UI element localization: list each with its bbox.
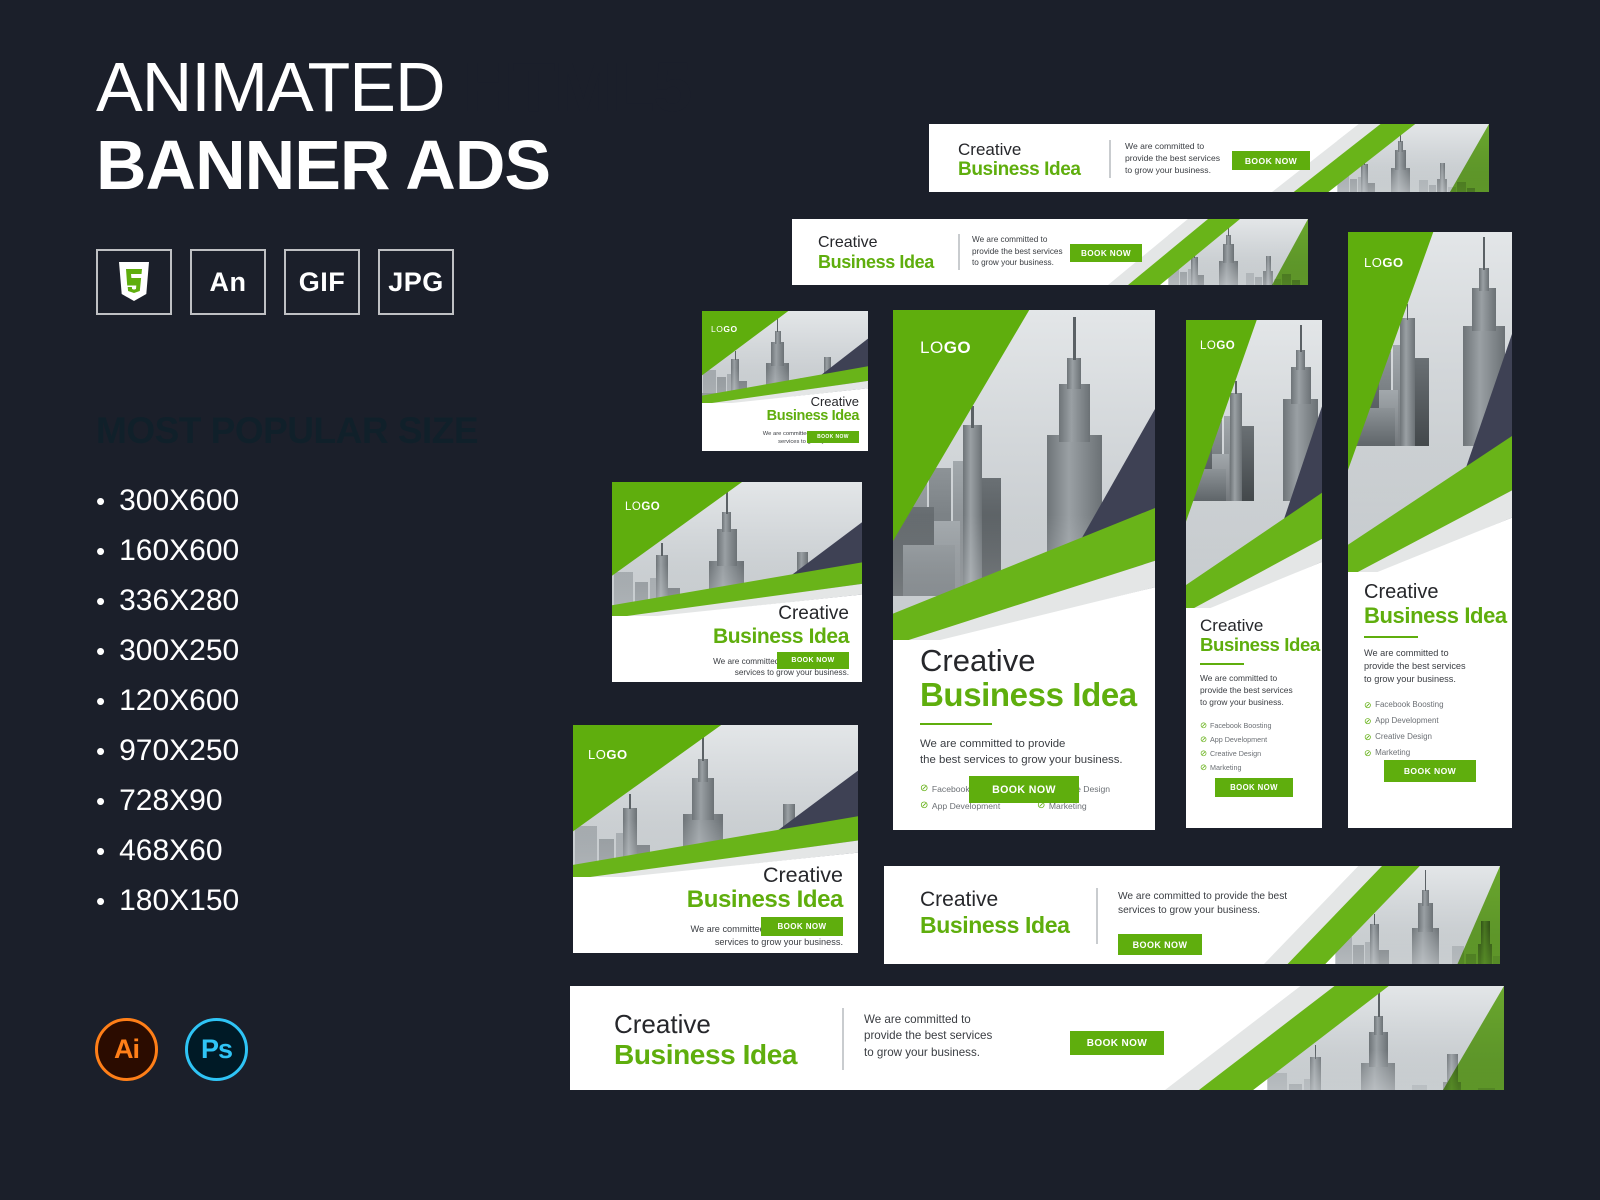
banner-logo: LOGO [711, 324, 738, 334]
logo-prefix: LO [588, 747, 606, 762]
empire-state-crown [1422, 890, 1429, 906]
banner-description: We are committed toprovide the best serv… [864, 1012, 992, 1061]
banner-mockup[interactable]: CreativeBusiness IdeaWe are committed to… [792, 219, 1308, 285]
banner-image-region [1165, 986, 1504, 1090]
empire-state-midsection [717, 529, 737, 565]
check-circle-icon: ⊘ [1364, 732, 1372, 742]
banner-text-block: CreativeBusiness IdeaWe are committed to… [1200, 617, 1308, 772]
logo-prefix: LO [920, 338, 944, 357]
feature-label: Facebook Boosting [1375, 700, 1444, 710]
banner-divider-rule [1364, 636, 1418, 638]
banner-mockup-showcase: CreativeBusiness IdeaWe are committed to… [0, 0, 1600, 1200]
banner-mockup[interactable]: CreativeBusiness IdeaWe are committed to… [884, 866, 1500, 964]
empire-state-crown [1226, 235, 1231, 245]
banner-title-creative: Creative [818, 234, 934, 252]
banner-image-region [1264, 866, 1500, 964]
feature-label: Facebook Boosting [1210, 721, 1272, 730]
banner-mockup[interactable]: LOGOCreativeBusiness IdeaWe are committe… [893, 310, 1155, 830]
empire-state-antenna [1378, 990, 1380, 1017]
feature-item: ⊘Marketing [1364, 748, 1496, 758]
description-line: provide the best services [1200, 685, 1308, 697]
check-circle-icon: ⊘ [1364, 716, 1372, 726]
logo-prefix: LO [1364, 255, 1382, 270]
book-now-button[interactable]: BOOK NOW [1070, 244, 1142, 262]
check-circle-icon: ⊘ [1364, 748, 1372, 758]
feature-label: Creative Design [1375, 732, 1432, 742]
banner-description: We are committed toprovide the best serv… [1125, 140, 1220, 177]
banner-title-creative: Creative [1200, 617, 1308, 635]
banner-text-block: CreativeBusiness IdeaWe are committed to… [1364, 582, 1496, 758]
book-now-button[interactable]: BOOK NOW [1070, 1031, 1164, 1055]
banner-title-business-idea: Business Idea [588, 887, 843, 913]
book-now-button[interactable]: BOOK NOW [777, 652, 849, 669]
secondary-spire [661, 543, 663, 557]
description-line: to grow your business. [1200, 697, 1308, 709]
description-line: We are committed to [1364, 647, 1496, 660]
vertical-divider [842, 1008, 844, 1070]
secondary-spire [1235, 381, 1237, 395]
banner-title-business-idea: Business Idea [920, 677, 1128, 713]
banner-title-creative: Creative [920, 644, 1128, 677]
banner-title-group: CreativeBusiness Idea [614, 1010, 797, 1071]
empire-state-crown [722, 512, 731, 532]
description-line: services to grow your business. [588, 936, 843, 949]
check-circle-icon: ⊘ [920, 801, 928, 812]
banner-title-creative: Creative [625, 604, 849, 625]
banner-image-region [1348, 232, 1512, 572]
book-now-button[interactable]: BOOK NOW [1215, 778, 1293, 797]
feature-item: ⊘App Development [1200, 735, 1308, 744]
banner-logo: LOGO [1200, 340, 1235, 352]
banner-title-business-idea: Business Idea [614, 1039, 797, 1071]
banner-title-group: CreativeBusiness Idea [818, 234, 934, 272]
logo-suffix: GO [641, 501, 660, 513]
feature-label: Marketing [1210, 763, 1242, 772]
book-now-button[interactable]: BOOK NOW [761, 917, 843, 936]
description-line: to grow your business. [1125, 164, 1220, 176]
empire-state-midsection [692, 778, 714, 819]
secondary-spire [1407, 304, 1409, 320]
feature-label: App Development [1210, 735, 1267, 744]
logo-prefix: LO [625, 501, 641, 513]
feature-item: ⊘Facebook Boosting [1200, 721, 1308, 730]
description-line: provide the best services [972, 246, 1063, 258]
banner-title-creative: Creative [958, 140, 1081, 159]
description-line: We are committed to [1200, 673, 1308, 685]
banner-description: We are committed toprovide the best serv… [1364, 647, 1496, 686]
banner-title-creative: Creative [711, 395, 859, 409]
empire-state-antenna [1073, 317, 1076, 360]
building-block [1242, 426, 1254, 500]
banner-title-group: CreativeBusiness Idea [958, 140, 1081, 181]
description-line: to grow your business. [1364, 673, 1496, 686]
logo-suffix: GO [606, 747, 627, 762]
description-line: provide the best services [864, 1028, 992, 1044]
check-circle-icon: ⊘ [1364, 700, 1372, 710]
empire-state-crown [1398, 141, 1403, 152]
banner-mockup[interactable]: LOGOCreativeBusiness IdeaWe are committe… [702, 311, 868, 451]
logo-suffix: GO [944, 338, 971, 357]
logo-suffix: GO [1382, 255, 1403, 270]
banner-mockup[interactable]: LOGOCreativeBusiness IdeaWe are committe… [612, 482, 862, 682]
feature-item: ⊘Creative Design [1200, 749, 1308, 758]
logo-prefix: LO [1200, 340, 1216, 352]
banner-description: We are committed to providethe best serv… [920, 736, 1128, 768]
empire-state-crown [1067, 358, 1081, 389]
secondary-spire [735, 351, 736, 360]
banner-logo: LOGO [920, 338, 971, 358]
banner-title-business-idea: Business Idea [1364, 604, 1496, 628]
banner-logo: LOGO [625, 501, 660, 513]
banner-text-block: CreativeBusiness IdeaWe are committed to… [625, 604, 849, 682]
book-now-button[interactable]: BOOK NOW [1232, 151, 1310, 170]
secondary-spire [629, 794, 631, 809]
description-line: provide the best services [1125, 152, 1220, 164]
empire-state-midsection [771, 342, 784, 366]
description-line: services to grow your business. [1118, 904, 1287, 918]
secondary-tower [1400, 318, 1414, 446]
description-line: the best services to grow your business. [920, 752, 1128, 768]
secondary-spire [971, 406, 974, 428]
empire-state-midsection [1291, 367, 1311, 403]
banner-title-business-idea: Business Idea [711, 409, 859, 425]
logo-suffix: GO [1216, 340, 1235, 352]
check-circle-icon: ⊘ [1200, 721, 1207, 730]
banner-description: We are committed toprovide the best serv… [972, 234, 1063, 269]
book-now-button[interactable]: BOOK NOW [969, 776, 1079, 803]
banner-logo: LOGO [588, 747, 628, 762]
banner-description: We are committed to provide the bestserv… [1118, 890, 1287, 919]
banner-title-business-idea: Business Idea [625, 625, 849, 648]
banner-mockup[interactable]: CreativeBusiness IdeaWe are committed to… [570, 986, 1504, 1090]
check-circle-icon: ⊘ [1200, 735, 1207, 744]
check-circle-icon: ⊘ [920, 784, 928, 795]
feature-label: Marketing [1375, 748, 1410, 758]
empire-state-midsection [1472, 288, 1495, 331]
banner-title-creative: Creative [614, 1010, 797, 1039]
empire-state-antenna [1483, 237, 1485, 269]
vertical-divider [958, 234, 960, 270]
banner-feature-list: ⊘Facebook Boosting⊘App Development⊘Creat… [1364, 700, 1496, 758]
book-now-button[interactable]: BOOK NOW [807, 431, 859, 443]
description-line: provide the best services [1364, 660, 1496, 673]
empire-state-antenna [1425, 870, 1427, 892]
feature-label: App Development [1375, 716, 1439, 726]
book-now-button[interactable]: BOOK NOW [1118, 934, 1202, 955]
banner-text-block: CreativeBusiness IdeaWe are committed to… [588, 864, 843, 953]
banner-title-business-idea: Business Idea [818, 252, 934, 273]
vertical-divider [1096, 888, 1098, 944]
empire-state-crown [1296, 350, 1305, 370]
check-circle-icon: ⊘ [1200, 763, 1207, 772]
description-line: to grow your business. [864, 1045, 992, 1061]
banner-title-business-idea: Business Idea [958, 159, 1081, 181]
banner-title-creative: Creative [588, 864, 843, 887]
feature-label: Creative Design [1210, 749, 1261, 758]
banner-feature-list: ⊘Facebook Boosting⊘App Development⊘Creat… [1200, 721, 1308, 772]
secondary-spire [1374, 914, 1375, 925]
empire-state-antenna [1300, 325, 1302, 352]
banner-logo: LOGO [1364, 255, 1404, 270]
logo-prefix: LO [711, 324, 723, 334]
description-line: We are committed to [972, 234, 1063, 246]
empire-state-crown [1479, 268, 1490, 291]
description-line: We are committed to provide [920, 736, 1128, 752]
description-line: We are committed to [1125, 140, 1220, 152]
empire-state-crown [1374, 1016, 1383, 1035]
banner-mockup[interactable]: CreativeBusiness IdeaWe are committed to… [929, 124, 1489, 192]
banner-title-business-idea: Business Idea [1200, 635, 1308, 655]
logo-suffix: GO [723, 324, 737, 334]
empire-state-crown [775, 331, 781, 344]
building-block [1415, 358, 1429, 446]
check-circle-icon: ⊘ [1200, 749, 1207, 758]
empire-state-midsection [1059, 384, 1090, 442]
banner-title-creative: Creative [1364, 582, 1496, 604]
banner-divider-rule [920, 723, 992, 725]
banner-image-region [1186, 320, 1322, 608]
banner-title-creative: Creative [920, 888, 1069, 912]
banner-image-region [893, 310, 1155, 640]
banner-title-group: CreativeBusiness Idea [920, 888, 1069, 938]
banner-mockup[interactable]: LOGOCreativeBusiness IdeaWe are committe… [573, 725, 858, 953]
empire-state-crown [698, 759, 708, 781]
description-line: to grow your business. [972, 257, 1063, 269]
feature-item: ⊘Creative Design [1364, 732, 1496, 742]
banner-title-business-idea: Business Idea [920, 912, 1069, 938]
description-line: We are committed to provide the best [1118, 890, 1287, 904]
banner-mockup[interactable]: LOGOCreativeBusiness IdeaWe are committe… [1348, 232, 1512, 828]
banner-divider-rule [1200, 663, 1244, 665]
banner-mockup[interactable]: LOGOCreativeBusiness IdeaWe are committe… [1186, 320, 1322, 828]
feature-item: ⊘Facebook Boosting [1364, 700, 1496, 710]
vertical-divider [1109, 140, 1111, 178]
secondary-tower [1230, 393, 1242, 501]
book-now-button[interactable]: BOOK NOW [1384, 760, 1476, 782]
feature-item: ⊘App Development [1364, 716, 1496, 726]
banner-description: We are committed toprovide the best serv… [1200, 673, 1308, 709]
description-line: We are committed to [864, 1012, 992, 1028]
feature-item: ⊘Marketing [1200, 763, 1308, 772]
